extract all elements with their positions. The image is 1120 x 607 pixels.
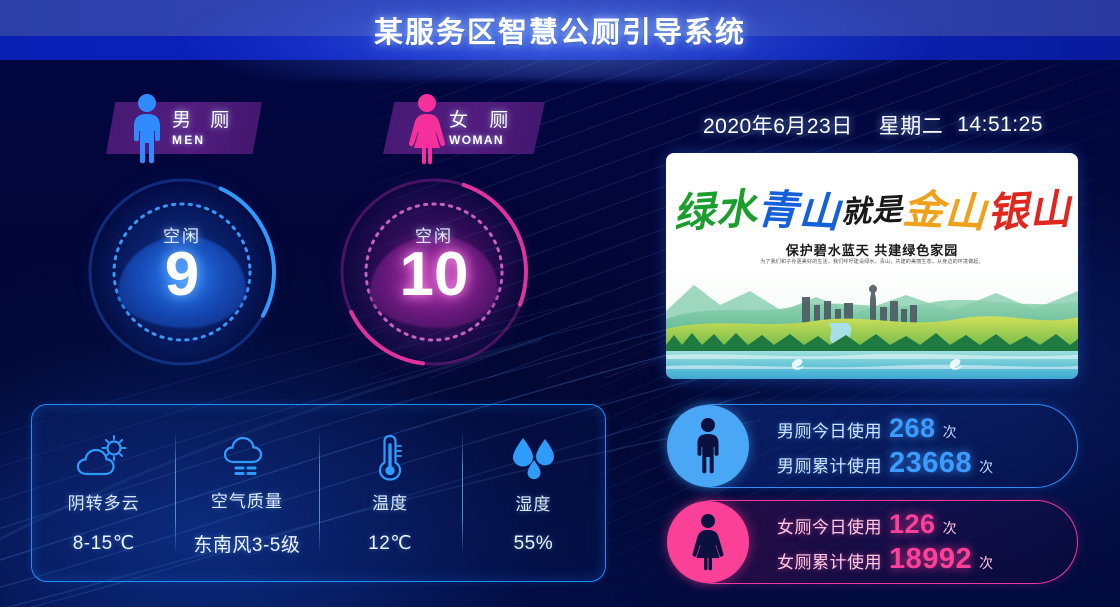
usage-row-total-men: 男厕累计使用 23668 次: [777, 447, 993, 480]
usage-total-value-men: 23668: [889, 447, 972, 480]
usage-total-unit-men: 次: [979, 457, 993, 477]
thermometer-icon: [375, 431, 405, 483]
usage-today-label-women: 女厕今日使用: [777, 513, 882, 538]
usage-total-label-men: 男厕累计使用: [777, 452, 882, 477]
page-title: 某服务区智慧公厕引导系统: [0, 0, 1120, 60]
male-figure-icon: [126, 93, 168, 170]
usage-today-value-women: 126: [889, 509, 936, 540]
dashboard-root: 某服务区智慧公厕引导系统 男 厕 MEN 女 厕 WOMAN: [0, 0, 1120, 607]
current-weekday: 星期二: [879, 110, 944, 140]
current-date: 2020年6月23日: [703, 110, 853, 140]
usage-total-unit-women: 次: [979, 553, 993, 573]
weather-value-condition: 8-15℃: [73, 532, 135, 555]
weather-value-air-quality: 东南风3-5级: [193, 530, 300, 557]
weather-label-humidity: 湿度: [515, 490, 551, 515]
gauge-men: 空闲 9: [82, 172, 282, 372]
cloud-air-icon: [221, 429, 273, 481]
usage-total-value-women: 18992: [889, 543, 972, 576]
weather-cell-temperature: 温度 12℃: [319, 405, 462, 581]
female-figure-icon: [404, 93, 450, 170]
usage-panel-men: 男厕今日使用 268 次 男厕累计使用 23668 次: [672, 404, 1078, 488]
weather-label-air-quality: 空气质量: [211, 487, 283, 512]
poster-subtitle: 保护碧水蓝天 共建绿色家园: [666, 240, 1078, 259]
gauge-women: 空闲 10: [334, 172, 534, 372]
water-drops-icon: [507, 432, 559, 484]
weather-value-humidity: 55%: [514, 533, 554, 555]
weather-label-temperature: 温度: [372, 489, 408, 514]
poster-hero-text: 绿水青山就是金山银山: [666, 177, 1078, 237]
badge-label-cn-women: 女 厕: [449, 111, 516, 130]
poster-hero-part-2: 青山: [755, 175, 842, 239]
weather-cell-humidity: 湿度 55%: [462, 405, 605, 581]
usage-row-today-women: 女厕今日使用 126 次: [777, 509, 993, 540]
female-figure-icon: [667, 501, 749, 583]
usage-total-label-women: 女厕累计使用: [777, 548, 882, 573]
badge-label-cn-men: 男 厕: [172, 111, 236, 130]
usage-today-label-men: 男厕今日使用: [777, 417, 882, 442]
datetime-bar: 2020年6月23日 星期二 14:51:25: [668, 108, 1078, 142]
male-figure-icon: [667, 405, 749, 487]
usage-today-value-men: 268: [889, 413, 936, 444]
poster-hero-part-3: 就是: [840, 184, 904, 231]
poster-hero-part-4: 金山: [901, 175, 988, 239]
badge-label-en-women: WOMAN: [449, 134, 516, 146]
badge-label-en-men: MEN: [172, 134, 236, 146]
gauge-count-women: 10: [334, 244, 534, 306]
usage-row-today-men: 男厕今日使用 268 次: [777, 413, 993, 444]
poster-landscape-illustration: [666, 267, 1078, 379]
weather-cell-air-quality: 空气质量 东南风3-5级: [175, 405, 318, 581]
weather-cell-condition: 阴转多云 8-15℃: [32, 405, 175, 581]
usage-row-total-women: 女厕累计使用 18992 次: [777, 543, 993, 576]
weather-label-condition: 阴转多云: [68, 489, 140, 514]
usage-panel-women: 女厕今日使用 126 次 女厕累计使用 18992 次: [672, 500, 1078, 584]
gauge-count-men: 9: [82, 244, 282, 306]
usage-today-unit-men: 次: [943, 422, 957, 442]
cloud-sun-icon: [75, 431, 133, 483]
weather-value-temperature: 12℃: [368, 532, 412, 555]
usage-today-unit-women: 次: [943, 518, 957, 538]
app-header: 某服务区智慧公厕引导系统: [0, 0, 1120, 60]
current-time: 14:51:25: [957, 113, 1043, 137]
poster-fineprint-line-1: 为了我们和子孙更美好的生活，我们呼吁建设绿水、青山，共建的美丽生态，从身边的环境…: [666, 258, 1078, 267]
poster-hero-part-5: 银山: [985, 175, 1072, 239]
weather-panel: 阴转多云 8-15℃ 空气质量 东南风3-5级: [31, 404, 606, 582]
poster-hero-part-1: 绿水: [671, 174, 759, 240]
promo-poster: 绿水青山就是金山银山 保护碧水蓝天 共建绿色家园 为了我们和子孙更美好的生活，我…: [666, 153, 1078, 379]
